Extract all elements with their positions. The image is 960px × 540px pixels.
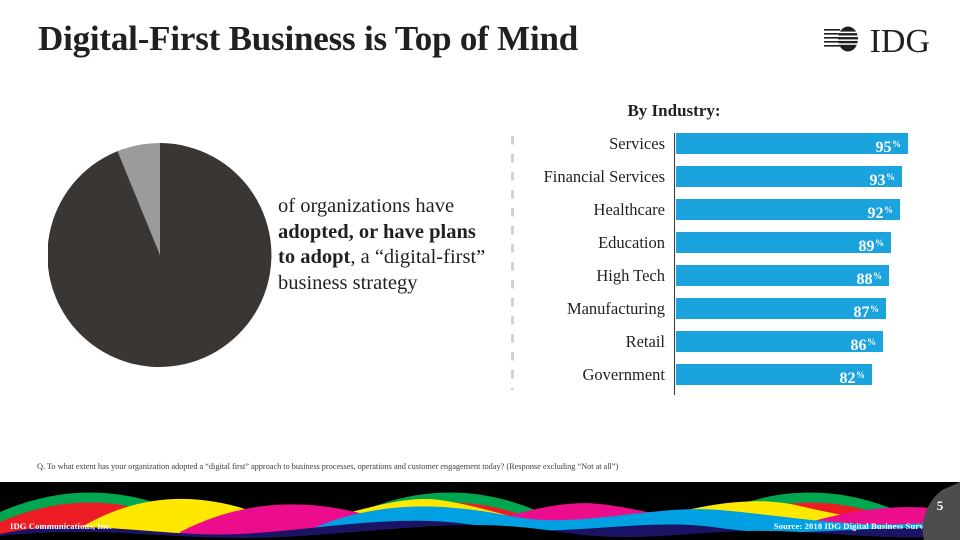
caption-part-6: business strategy <box>278 272 418 294</box>
footnote-question: Q. To what extent has your organization … <box>37 462 618 471</box>
bar-row: Services95% <box>534 133 914 154</box>
bar-fill: 95% <box>676 133 908 154</box>
bar-fill: 89% <box>676 232 891 253</box>
bar-value-label: 93% <box>870 166 896 187</box>
pie-value-label: 89% <box>178 371 232 414</box>
bar-fill: 92% <box>676 199 900 220</box>
bar-category-label: Government <box>534 364 665 385</box>
bar-category-label: Education <box>534 232 665 253</box>
footer-source: Source: 2018 IDG Digital Business Survey <box>774 521 932 531</box>
pie-caption: of organizations have adopted, or have p… <box>278 194 490 296</box>
bar-value-percent: % <box>867 337 876 347</box>
bar-chart: Services95%Financial Services93%Healthca… <box>534 133 914 395</box>
bar-track: 93% <box>676 166 902 187</box>
bar-category-label: Healthcare <box>534 199 665 220</box>
bar-track: 95% <box>676 133 908 154</box>
bar-value-number: 82 <box>840 370 856 387</box>
bar-value-label: 92% <box>868 199 894 220</box>
bar-value-label: 88% <box>857 265 883 286</box>
bar-category-label: Manufacturing <box>534 298 665 319</box>
bar-value-percent: % <box>875 238 884 248</box>
bar-fill: 87% <box>676 298 886 319</box>
bar-value-percent: % <box>892 139 901 149</box>
caption-part-5: “digital-first” <box>375 246 485 268</box>
caption-part-2: adopted, or have <box>278 221 424 243</box>
bar-value-label: 82% <box>840 364 866 385</box>
bar-value-number: 88 <box>857 271 873 288</box>
bar-value-percent: % <box>873 271 882 281</box>
bar-row: Education89% <box>534 232 914 253</box>
bar-value-number: 89 <box>859 238 875 255</box>
page-title: Digital-First Business is Top of Mind <box>38 19 578 59</box>
slide-footer: IDG Communications, Inc. Source: 2018 ID… <box>0 482 960 540</box>
footer-wave-graphic <box>0 482 960 540</box>
bar-value-percent: % <box>886 172 895 182</box>
bar-row: High Tech88% <box>534 265 914 286</box>
bar-track: 87% <box>676 298 886 319</box>
bar-value-number: 95 <box>876 139 892 156</box>
section-divider <box>511 136 514 390</box>
bar-value-label: 89% <box>859 232 885 253</box>
caption-part-1: of organizations have <box>278 195 454 217</box>
bar-value-number: 93 <box>870 172 886 189</box>
bar-value-number: 92 <box>868 205 884 222</box>
bar-value-percent: % <box>856 370 865 380</box>
bar-fill: 88% <box>676 265 889 286</box>
idg-globe-icon <box>824 22 868 61</box>
footer-copyright: IDG Communications, Inc. <box>10 521 112 531</box>
pie-value-percent: % <box>215 380 232 399</box>
pie-chart: 89% <box>48 143 272 367</box>
bar-row: Manufacturing87% <box>534 298 914 319</box>
bar-category-label: High Tech <box>534 265 665 286</box>
bar-fill: 82% <box>676 364 872 385</box>
bar-track: 88% <box>676 265 889 286</box>
bar-category-label: Retail <box>534 331 665 352</box>
bar-row: Healthcare92% <box>534 199 914 220</box>
bar-value-percent: % <box>884 205 893 215</box>
slide-canvas: Digital-First Business is Top of Mind <box>0 0 960 540</box>
bar-row: Retail86% <box>534 331 914 352</box>
bar-fill: 86% <box>676 331 883 352</box>
bar-track: 89% <box>676 232 891 253</box>
idg-logo: IDG <box>824 22 930 61</box>
bar-track: 86% <box>676 331 883 352</box>
bar-row: Financial Services93% <box>534 166 914 187</box>
page-number: 5 <box>928 498 952 514</box>
bar-value-label: 87% <box>854 298 880 319</box>
bar-track: 82% <box>676 364 872 385</box>
caption-part-4: , a <box>350 246 369 268</box>
bar-fill: 93% <box>676 166 902 187</box>
bar-value-label: 95% <box>876 133 902 154</box>
pie-value-number: 89 <box>178 372 214 413</box>
bar-row: Government82% <box>534 364 914 385</box>
bar-value-label: 86% <box>851 331 877 352</box>
bar-track: 92% <box>676 199 900 220</box>
bar-value-percent: % <box>870 304 879 314</box>
bar-chart-heading: By Industry: <box>627 101 720 121</box>
bar-category-label: Services <box>534 133 665 154</box>
bar-value-number: 87 <box>854 304 870 321</box>
idg-wordmark: IDG <box>870 25 930 59</box>
bar-category-label: Financial Services <box>534 166 665 187</box>
bar-value-number: 86 <box>851 337 867 354</box>
